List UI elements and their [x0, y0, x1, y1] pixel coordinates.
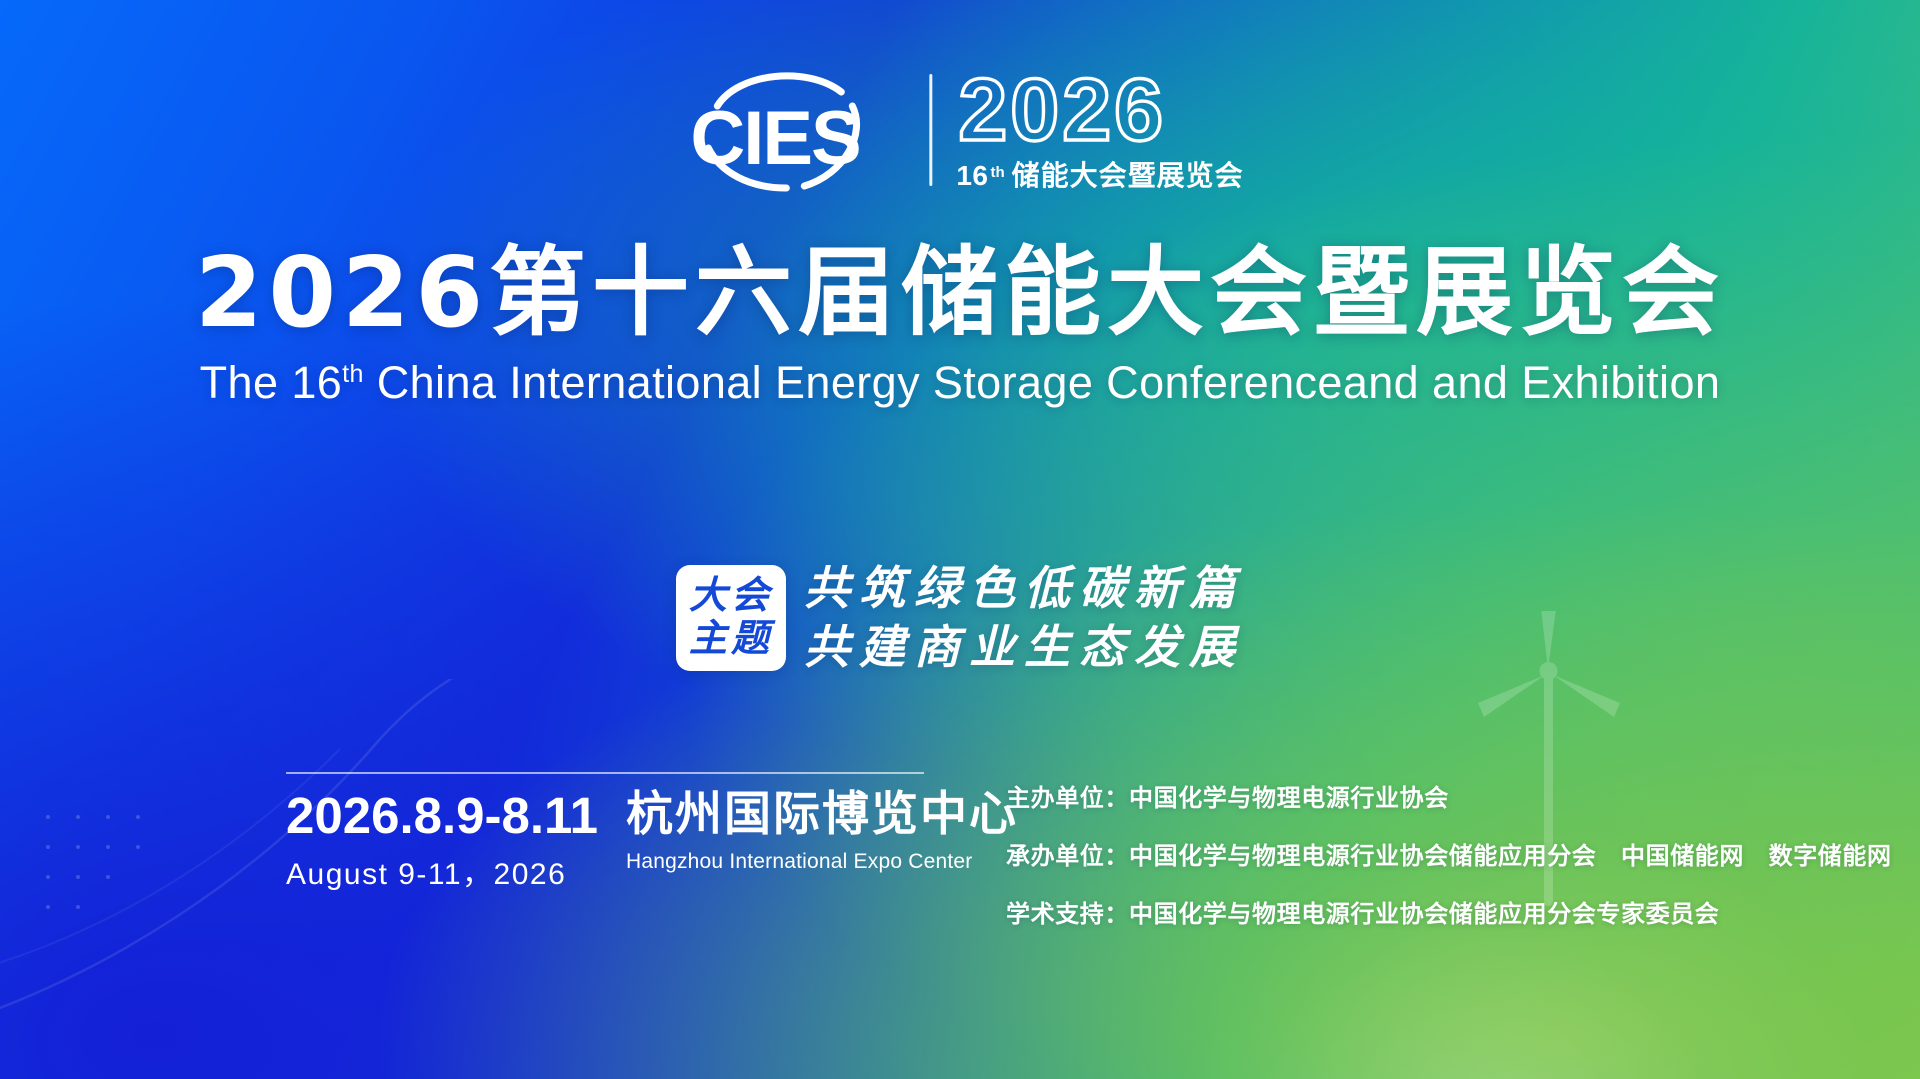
- event-date-cn: 2026.8.9-8.11: [286, 790, 598, 842]
- theme-badge-line2: 主题: [689, 617, 773, 660]
- cies-logo: CIES 2026 16 th 储能大会暨展览会: [676, 62, 1243, 197]
- event-date-en: August 9-11，2026: [286, 849, 598, 893]
- logo-edition-line: 16 th 储能大会暨展览会: [956, 162, 1243, 190]
- date-venue-row: 2026.8.9-8.11 August 9-11，2026 杭州国际博览中心 …: [286, 790, 936, 893]
- divider-rule: [286, 772, 924, 774]
- page-title-cn: 2026第十六届储能大会暨展览会: [0, 242, 1920, 345]
- footer-block: 2026.8.9-8.11 August 9-11，2026 杭州国际博览中心 …: [286, 772, 1920, 929]
- theme-slogan-line2: 共建商业生态发展: [804, 619, 1244, 676]
- dot-grid-icon: [40, 809, 230, 959]
- svg-text:CIES: CIES: [690, 96, 859, 181]
- theme-slogan-line1: 共筑绿色低碳新篇: [804, 560, 1244, 617]
- theme-badge-line1: 大会: [689, 574, 773, 617]
- svg-text:2026: 2026: [958, 70, 1166, 158]
- title-en-prefix: The 16: [200, 357, 343, 408]
- title-en-ordinal: th: [342, 360, 364, 388]
- venue-column: 杭州国际博览中心 Hangzhou International Expo Cen…: [626, 790, 1018, 874]
- date-venue-block: 2026.8.9-8.11 August 9-11，2026 杭州国际博览中心 …: [286, 772, 936, 893]
- organizer-line: 主办单位：中国化学与物理电源行业协会: [1006, 778, 1892, 813]
- logo-right-group: 2026 16 th 储能大会暨展览会: [956, 70, 1243, 190]
- conference-banner: CIES 2026 16 th 储能大会暨展览会 2026第十六届储能大会暨展览…: [0, 0, 1920, 1079]
- date-column: 2026.8.9-8.11 August 9-11，2026: [286, 790, 598, 893]
- organizer-line: 学术支持：中国化学与物理电源行业协会储能应用分会专家委员会: [1006, 894, 1892, 929]
- year-2026-outline-icon: 2026: [956, 70, 1221, 158]
- cies-wordmark-icon: CIES: [676, 62, 911, 197]
- conference-theme: 大会 主题 共筑绿色低碳新篇 共建商业生态发展: [676, 560, 1244, 676]
- organizers-block: 主办单位：中国化学与物理电源行业协会 承办单位：中国化学与物理电源行业协会储能应…: [1006, 772, 1892, 929]
- event-venue-en: Hangzhou International Expo Center: [626, 850, 1018, 874]
- theme-slogan: 共筑绿色低碳新篇 共建商业生态发展: [804, 560, 1244, 676]
- theme-badge: 大会 主题: [676, 565, 786, 670]
- logo-edition-cn: 储能大会暨展览会: [1012, 162, 1244, 190]
- title-en-rest: China International Energy Storage Confe…: [364, 357, 1720, 408]
- logo-edition-ordinal: th: [990, 165, 1004, 180]
- organizer-line: 承办单位：中国化学与物理电源行业协会储能应用分会 中国储能网 数字储能网: [1006, 836, 1892, 871]
- page-title-en: The 16th China International Energy Stor…: [0, 357, 1920, 409]
- vertical-divider-icon: [929, 74, 932, 186]
- logo-edition-number: 16: [956, 162, 988, 190]
- event-venue-cn: 杭州国际博览中心: [626, 790, 1018, 839]
- title-block: 2026第十六届储能大会暨展览会 The 16th China Internat…: [0, 242, 1920, 409]
